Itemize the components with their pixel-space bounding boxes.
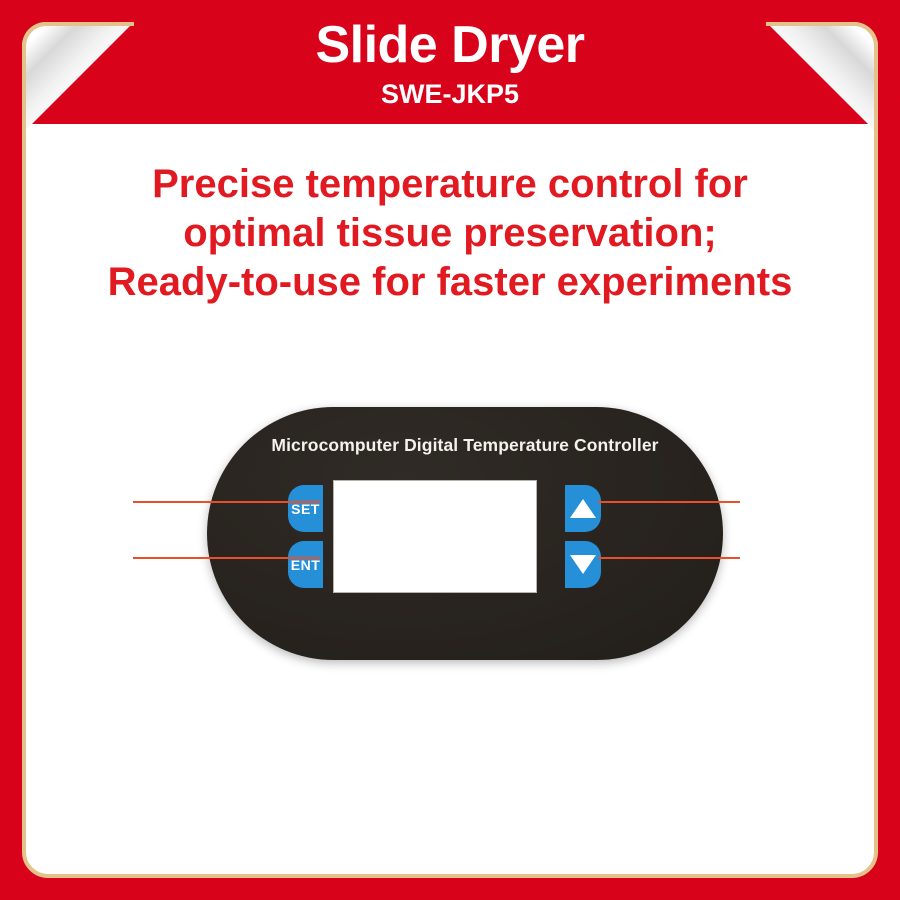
leader-line-set [133, 501, 320, 503]
up-arrow-icon [570, 499, 596, 518]
device-illustration: Microcomputer Digital Temperature Contro… [0, 0, 900, 900]
tagline: Precise temperature control for optimal … [40, 160, 860, 306]
ent-button[interactable]: ENT [288, 541, 323, 588]
leader-line-down [598, 557, 740, 559]
tagline-line-3: Ready-to-use for faster experiments [40, 258, 860, 307]
temperature-controller-panel: Microcomputer Digital Temperature Contro… [207, 407, 723, 660]
leader-line-up [598, 501, 740, 503]
lcd-display [333, 480, 537, 593]
page-title: Slide Dryer [0, 0, 900, 73]
device-label: Microcomputer Digital Temperature Contro… [207, 435, 723, 456]
down-button[interactable] [565, 541, 601, 588]
up-button[interactable] [565, 485, 601, 532]
model-number: SWE-JKP5 [0, 73, 900, 110]
poster-root: Slide Dryer SWE-JKP5 Precise temperature… [0, 0, 900, 900]
tagline-line-2: optimal tissue preservation; [40, 209, 860, 258]
down-arrow-icon [570, 555, 596, 574]
tagline-line-1: Precise temperature control for [40, 160, 860, 209]
header: Slide Dryer SWE-JKP5 [0, 0, 900, 110]
leader-line-ent [133, 557, 320, 559]
set-button[interactable]: SET [288, 485, 323, 532]
